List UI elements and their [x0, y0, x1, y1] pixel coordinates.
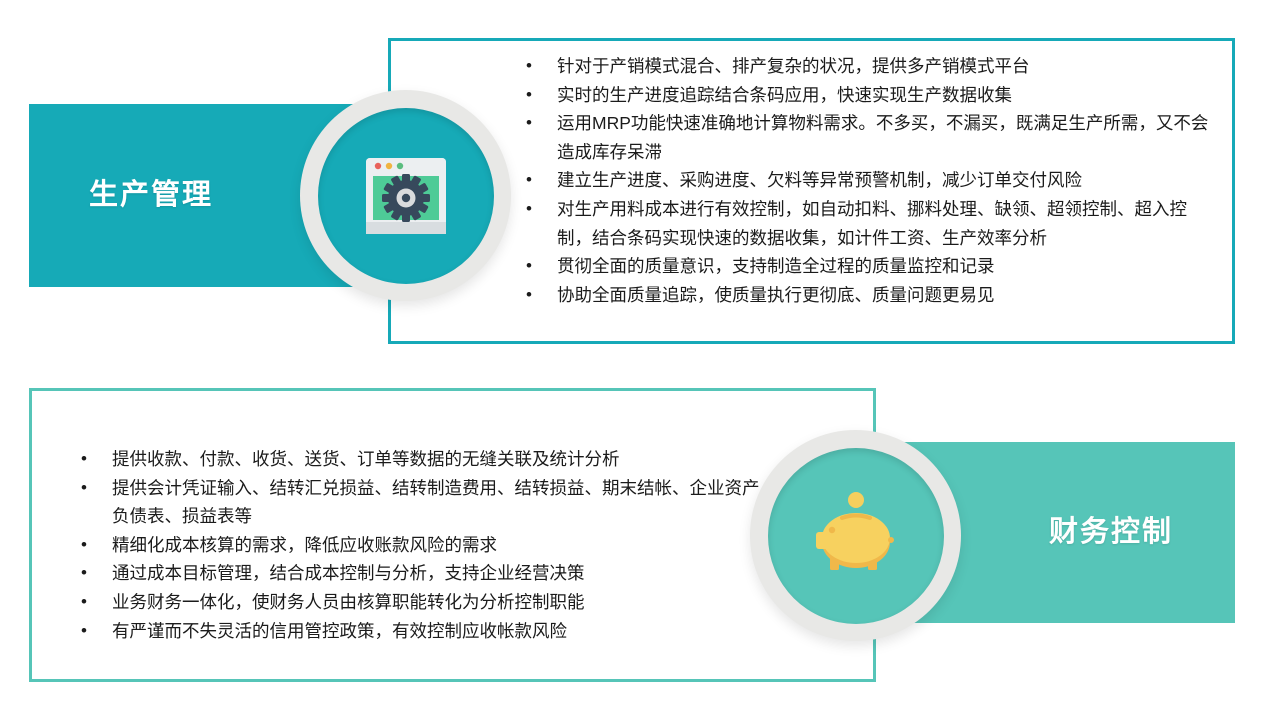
list-item: 提供会计凭证输入、结转汇兑损益、结转制造费用、结转损益、期末结帐、企业资产负债表…: [75, 474, 765, 531]
slide-canvas: 生产管理: [0, 0, 1264, 710]
list-item: 建立生产进度、采购进度、欠料等异常预警机制，减少订单交付风险: [520, 166, 1210, 195]
list-item: 业务财务一体化，使财务人员由核算职能转化为分析控制职能: [75, 588, 765, 617]
list-item: 贯彻全面的质量意识，支持制造全过程的质量监控和记录: [520, 252, 1210, 281]
list-item: 提供收款、付款、收货、送货、订单等数据的无缝关联及统计分析: [75, 445, 765, 474]
list-item: 精细化成本核算的需求，降低应收账款风险的需求: [75, 531, 765, 560]
list-item: 运用MRP功能快速准确地计算物料需求。不多买，不漏买，既满足生产所需，又不会造成…: [520, 109, 1210, 166]
list-item: 有严谨而不失灵活的信用管控政策，有效控制应收帐款风险: [75, 617, 765, 646]
browser-window-gear-icon: [358, 148, 454, 244]
finance-icon-badge: [750, 430, 961, 641]
finance-icon-inner-circle: [768, 448, 944, 624]
finance-bullet-list: 提供收款、付款、收货、送货、订单等数据的无缝关联及统计分析 提供会计凭证输入、结…: [75, 445, 765, 645]
list-item: 通过成本目标管理，结合成本控制与分析，支持企业经营决策: [75, 559, 765, 588]
production-icon-badge: [300, 90, 511, 301]
finance-panel-title: 财务控制: [1049, 518, 1173, 547]
list-item: 针对于产销模式混合、排产复杂的状况，提供多产销模式平台: [520, 52, 1210, 81]
list-item: 实时的生产进度追踪结合条码应用，快速实现生产数据收集: [520, 81, 1210, 110]
list-item: 协助全面质量追踪，使质量执行更彻底、质量问题更易见: [520, 281, 1210, 310]
list-item: 对生产用料成本进行有效控制，如自动扣料、挪料处理、缺领、超领控制、超入控制，结合…: [520, 195, 1210, 252]
piggy-bank-icon: [806, 488, 906, 584]
production-bullet-list: 针对于产销模式混合、排产复杂的状况，提供多产销模式平台 实时的生产进度追踪结合条…: [520, 52, 1210, 309]
production-panel-title: 生产管理: [89, 181, 213, 210]
production-icon-inner-circle: [318, 108, 494, 284]
